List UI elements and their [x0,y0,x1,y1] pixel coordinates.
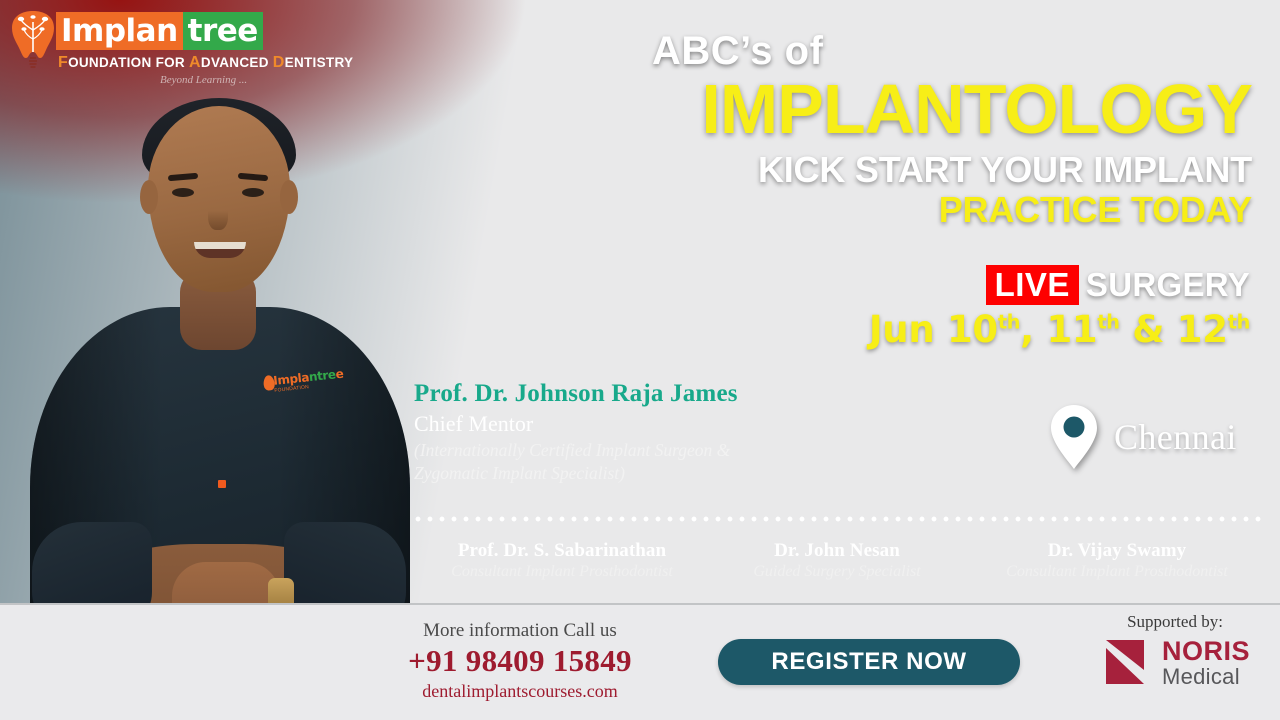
contact-block: More information Call us +91 98409 15849… [380,620,660,702]
brand-wordmark-part1: Implan [56,12,183,50]
noris-diagonal-mark [1100,636,1154,690]
portrait-eye-right [242,188,264,197]
portrait-ear-right [280,180,298,214]
brand-wordmark: Implan tree [56,12,263,50]
faculty-name: Dr. Vijay Swamy [962,540,1272,562]
faculty-role: Consultant Implant Prosthodontist [412,563,712,581]
contact-website[interactable]: dentalimplantscourses.com [380,681,660,702]
mentor-credentials-line2: Zygomatic Implant Specialist) [414,462,834,485]
portrait-nose [208,198,228,230]
date-part-1: Jun 10 [869,308,998,351]
register-now-button[interactable]: REGISTER NOW [718,639,1020,685]
headline-eyebrow: ABC’s of [652,30,1252,72]
brand-sub-tagline: Beyond Learning ... [160,74,247,86]
map-pin-icon [1048,403,1100,471]
brand-tagline: FOUNDATION FOR ADVANCED DENTISTRY [58,54,353,72]
headline-title: IMPLANTOLOGY [652,74,1252,144]
faculty-name: Dr. John Nesan [712,540,962,562]
date-sup-2: th [1097,311,1119,334]
date-sup-3: th [1228,311,1250,334]
faculty-item: Dr. Vijay Swamy Consultant Implant Prost… [962,540,1272,581]
live-badge: LIVE [986,265,1079,305]
location-city-name: Chennai [1114,416,1237,458]
contact-phone[interactable]: +91 98409 15849 [380,643,660,679]
portrait-teeth [194,242,246,249]
footer-divider [0,603,1280,605]
event-promo-banner: Implan tree FOUNDATION FOR ADVANCED DENT… [0,0,1280,720]
register-button-label: REGISTER NOW [771,648,966,676]
live-surgery-row: LIVE SURGERY [986,265,1250,305]
sponsor-block: Supported by: NORIS Medical [1080,612,1270,690]
faculty-item: Prof. Dr. S. Sabarinathan Consultant Imp… [412,540,712,581]
date-part-2: , 11 [1020,308,1097,351]
event-location: Chennai [1048,403,1237,471]
brand-logo[interactable]: Implan tree FOUNDATION FOR ADVANCED DENT… [8,6,270,88]
headline-subtitle-line1: KICK START YOUR IMPLANT [652,150,1252,190]
sponsor-name-secondary: Medical [1162,666,1250,688]
date-sup-1: th [998,311,1020,334]
faculty-role: Consultant Implant Prosthodontist [962,563,1272,581]
portrait-eye-left [172,188,194,197]
tagline-dvanced: DVANCED [201,55,273,70]
tagline-f: F [58,54,68,71]
date-part-3: & 12 [1120,308,1228,351]
surgery-label: SURGERY [1086,266,1250,304]
tagline-d: D [273,54,285,71]
tooth-tree-icon [8,8,58,70]
sponsor-logo: NORIS Medical [1080,636,1270,690]
event-dates: Jun 10th, 11th & 12th [869,308,1250,351]
tagline-a: A [189,54,201,71]
tagline-entistry: ENTISTRY [285,55,354,70]
headline-block: ABC’s of IMPLANTOLOGY KICK START YOUR IM… [652,30,1252,231]
faculty-item: Dr. John Nesan Guided Surgery Specialist [712,540,962,581]
brand-wordmark-part2: tree [183,12,263,50]
contact-label: More information Call us [380,620,660,642]
mentor-block: Prof. Dr. Johnson Raja James Chief Mento… [414,380,834,485]
dotted-divider [412,516,1264,522]
portrait-mouth [194,242,246,258]
sponsor-label: Supported by: [1080,612,1270,632]
headline-subtitle-line2: PRACTICE TODAY [652,190,1252,230]
sponsor-name-primary: NORIS [1162,638,1250,665]
portrait-ear-left [140,180,158,214]
faculty-list: Prof. Dr. S. Sabarinathan Consultant Imp… [412,540,1272,581]
tagline-oundation: OUNDATION FOR [68,55,189,70]
mentor-credentials: (Internationally Certified Implant Surge… [414,439,834,485]
portrait-shirt-button [218,480,226,488]
mentor-credentials-line1: (Internationally Certified Implant Surge… [414,439,834,462]
faculty-role: Guided Surgery Specialist [712,563,962,581]
mentor-role: Chief Mentor [414,411,834,437]
faculty-name: Prof. Dr. S. Sabarinathan [412,540,712,562]
sponsor-wordmark: NORIS Medical [1162,638,1250,688]
mentor-name: Prof. Dr. Johnson Raja James [414,380,834,408]
